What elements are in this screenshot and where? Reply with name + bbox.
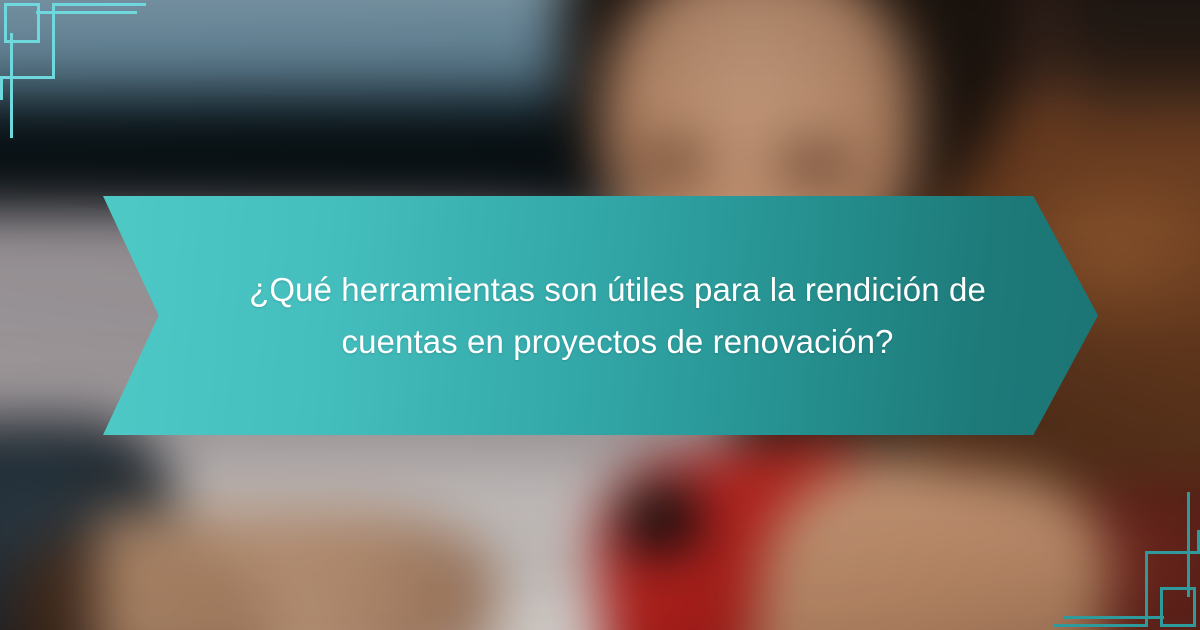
photo-left-arm [98, 510, 494, 630]
photo-child-brow-right [772, 146, 858, 184]
question-text: ¿Qué herramientas son útiles para la ren… [238, 264, 998, 366]
photo-watch [615, 477, 705, 557]
question-banner: ¿Qué herramientas son útiles para la ren… [103, 196, 1098, 435]
photo-top-right-shadow [1075, 0, 1200, 135]
question-card: ¿Qué herramientas son útiles para la ren… [0, 0, 1200, 630]
photo-child-brow-left [633, 143, 712, 181]
